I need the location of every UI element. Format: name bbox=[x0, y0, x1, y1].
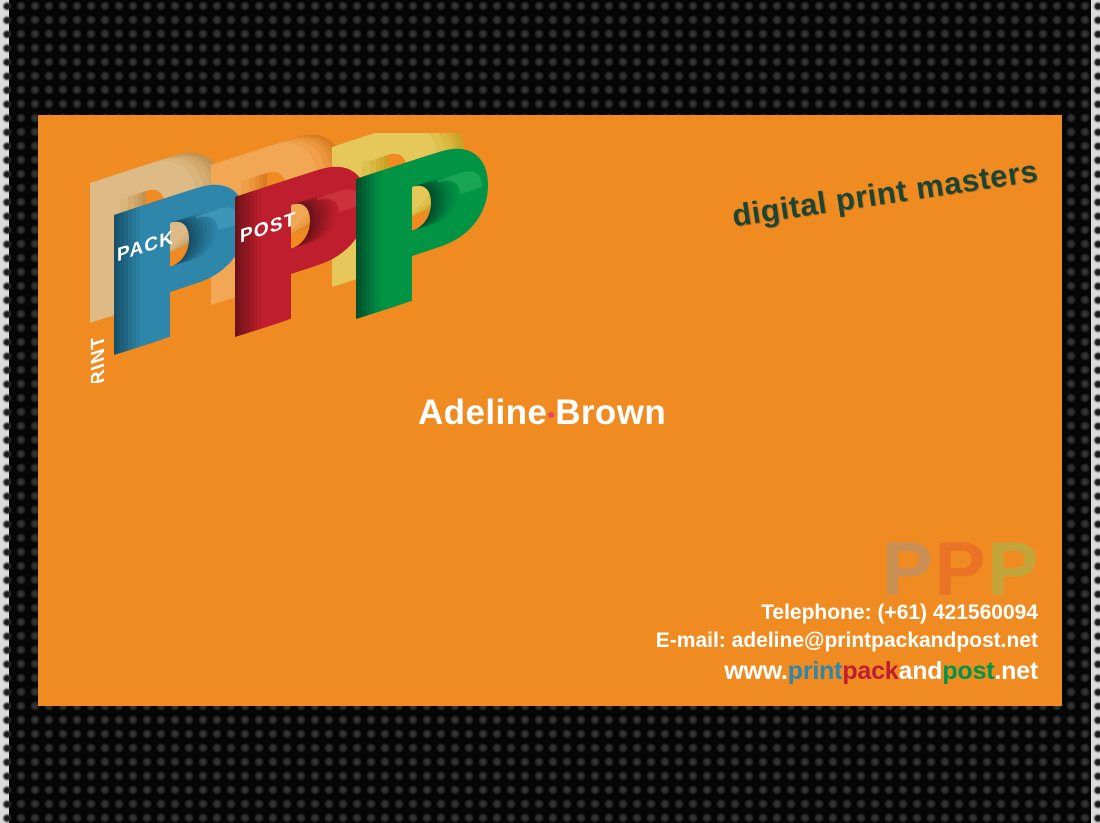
ppp-watermark: PPP bbox=[882, 532, 1040, 608]
person-last-name: Brown bbox=[555, 393, 666, 432]
website-part-3: pack bbox=[842, 657, 898, 685]
email-value[interactable]: adeline@printpackandpost.net bbox=[732, 629, 1038, 652]
mesh-edge-strip-left bbox=[0, 0, 9, 823]
business-card: PRINT PACK bbox=[38, 115, 1062, 706]
telephone-value: (+61) 421560094 bbox=[877, 601, 1038, 624]
website-part-5: post bbox=[942, 657, 994, 685]
name-separator-dot bbox=[548, 412, 554, 418]
logo-side-label-print: PRINT bbox=[87, 332, 108, 383]
mesh-edge-strip-right bbox=[1091, 0, 1100, 823]
website-part-1: www. bbox=[724, 657, 788, 685]
email-line: E-mail: adeline@printpackandpost.net bbox=[656, 627, 1038, 655]
email-label: E-mail: bbox=[656, 629, 726, 652]
contact-block: Telephone: (+61) 421560094 E-mail: adeli… bbox=[656, 599, 1038, 688]
tagline: digital print masters bbox=[730, 153, 1041, 234]
telephone-line: Telephone: (+61) 421560094 bbox=[656, 599, 1038, 627]
website-line[interactable]: www.printpackandpost.net bbox=[656, 655, 1038, 688]
screenshot-stage: PRINT PACK bbox=[0, 0, 1100, 823]
person-name: AdelineBrown bbox=[418, 393, 666, 433]
website-part-2: print bbox=[788, 657, 843, 685]
ppp-logo: PRINT PACK bbox=[56, 133, 556, 383]
website-part-4: and bbox=[899, 657, 943, 685]
website-part-6: .net bbox=[994, 657, 1038, 685]
person-first-name: Adeline bbox=[418, 393, 547, 432]
telephone-label: Telephone: bbox=[761, 601, 871, 624]
